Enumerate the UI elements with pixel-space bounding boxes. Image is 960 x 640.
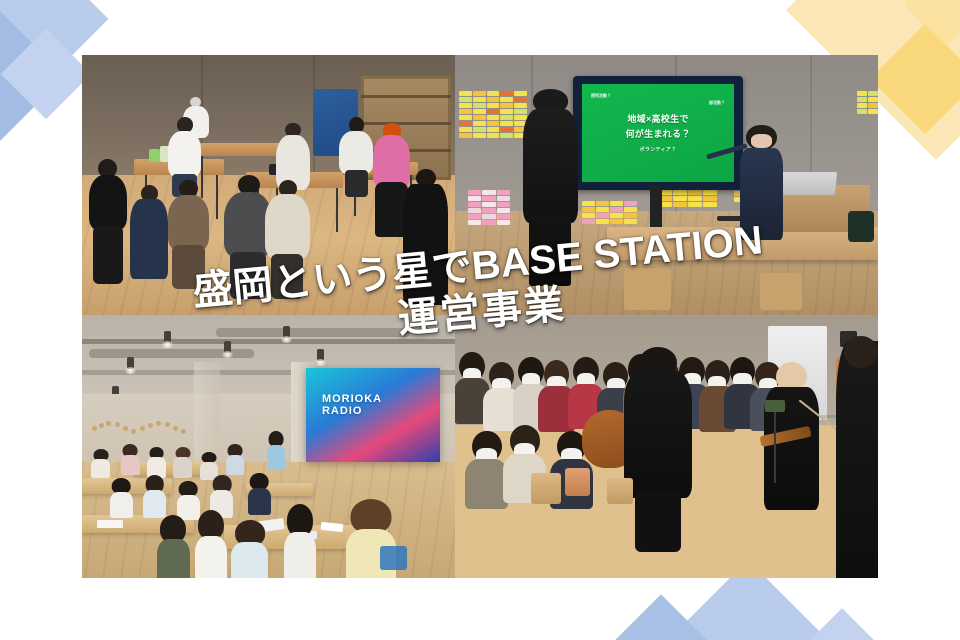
photo-collage: 探究活動？ 部活動？ 地域×高校生で 何が生まれる？ ボランティア？ (82, 55, 878, 578)
monitor-corner-label-left: 探究活動？ (591, 93, 611, 99)
projector-screen-text: MORIOKA RADIO (322, 394, 424, 417)
monitor-corner-label-right: 部活動？ (709, 100, 725, 106)
monitor-subline: ボランティア？ (640, 146, 677, 153)
projector-screen: MORIOKA RADIO (306, 368, 440, 463)
photo-workshop-market (82, 55, 455, 315)
decor-diamond-top-right-2 (870, 24, 960, 134)
presentation-monitor: 探究活動？ 部活動？ 地域×高校生で 何が生まれる？ ボランティア？ (573, 76, 742, 190)
presenter-standing (523, 89, 578, 287)
monitor-headline-2: 何が生まれる？ (625, 127, 690, 140)
photo-seminar: MORIOKA RADIO (82, 315, 455, 578)
decor-diamond-bottom-right-3 (774, 608, 910, 640)
decor-diamond-top-left-3 (1, 29, 92, 120)
decor-diamond-top-right-3 (904, 0, 960, 46)
decor-diamond-bottom-right-2 (600, 594, 722, 640)
slide-canvas: 探究活動？ 部活動？ 地域×高校生で 何が生まれる？ ボランティア？ (0, 0, 960, 640)
photo-presentation: 探究活動？ 部活動？ 地域×高校生で 何が生まれる？ ボランティア？ (455, 55, 878, 315)
photo-concert (455, 315, 878, 578)
presenter-pointing (738, 125, 785, 239)
cellist (624, 347, 692, 552)
monitor-headline-1: 地域×高校生で (627, 112, 688, 125)
decor-diamond-top-left-2 (0, 11, 65, 141)
